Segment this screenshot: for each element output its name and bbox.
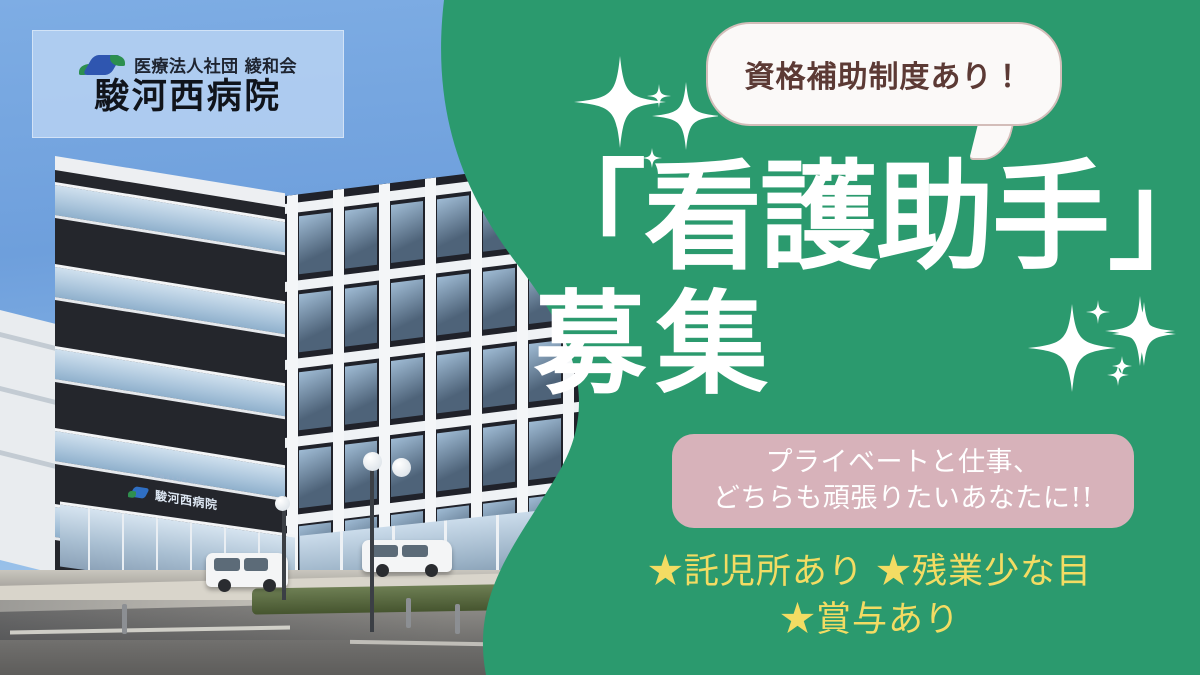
headline-secondary: 募集 [0, 288, 1200, 402]
logo-row: 医療法人社団 綾和会 [79, 52, 297, 77]
ayawakai-logo-icon [79, 55, 125, 75]
hospital-name: 駿河西病院 [94, 79, 282, 116]
perks-list: ★託児所あり ★残業少な目 ★賞与あり [540, 548, 1200, 645]
speech-bubble-text: 資格補助制度あり！ [745, 52, 1024, 96]
tagline-box: プライベートと仕事、 どちらも頑張りたいあなたに!! [672, 434, 1134, 528]
hospital-logo-plate: 医療法人社団 綾和会 駿河西病院 [32, 30, 344, 138]
perk-line: ★賞与あり [540, 596, 1200, 644]
poster-canvas: 医療法人社団 綾和会 駿河西病院 [0, 0, 1200, 675]
tagline-line-2: どちらも頑張りたいあなたに!! [713, 482, 1093, 517]
perk-line: ★託児所あり ★残業少な目 [540, 548, 1200, 596]
speech-bubble: 資格補助制度あり！ [706, 22, 1062, 126]
corporation-name: 医療法人社団 綾和会 [134, 52, 297, 77]
tagline-line-1: プライベートと仕事、 [766, 446, 1041, 481]
headline-primary: 「看護助手」 [528, 157, 1188, 277]
